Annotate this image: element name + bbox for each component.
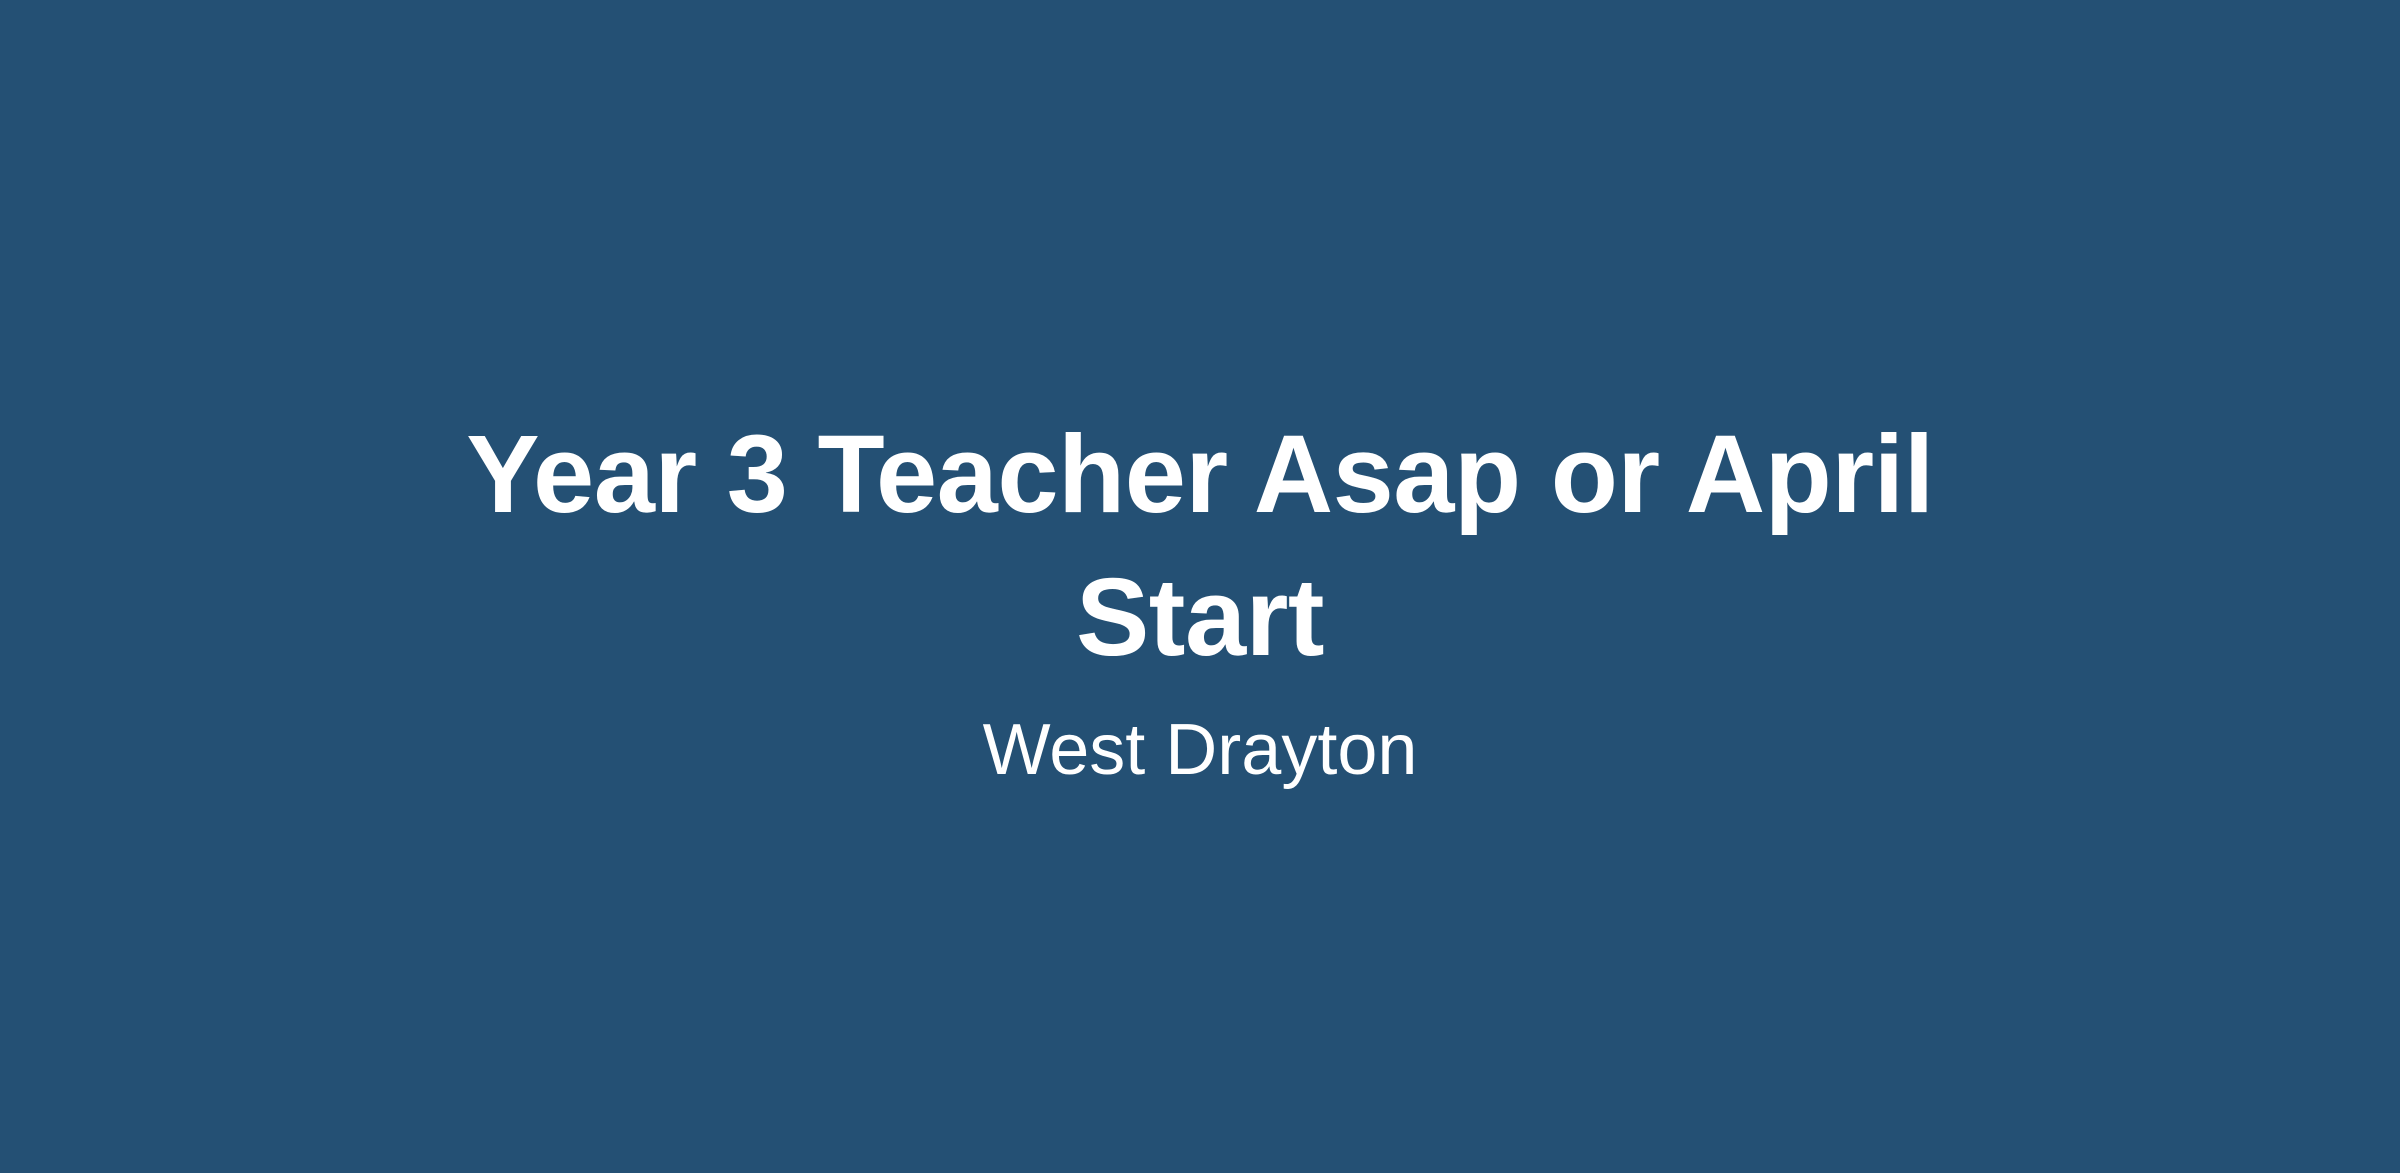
job-listing-content: Year 3 Teacher Asap or April Start West …	[350, 403, 2050, 793]
job-listing-slide: Year 3 Teacher Asap or April Start West …	[0, 0, 2400, 1173]
job-title: Year 3 Teacher Asap or April Start	[350, 403, 2050, 689]
job-location: West Drayton	[350, 707, 2050, 793]
